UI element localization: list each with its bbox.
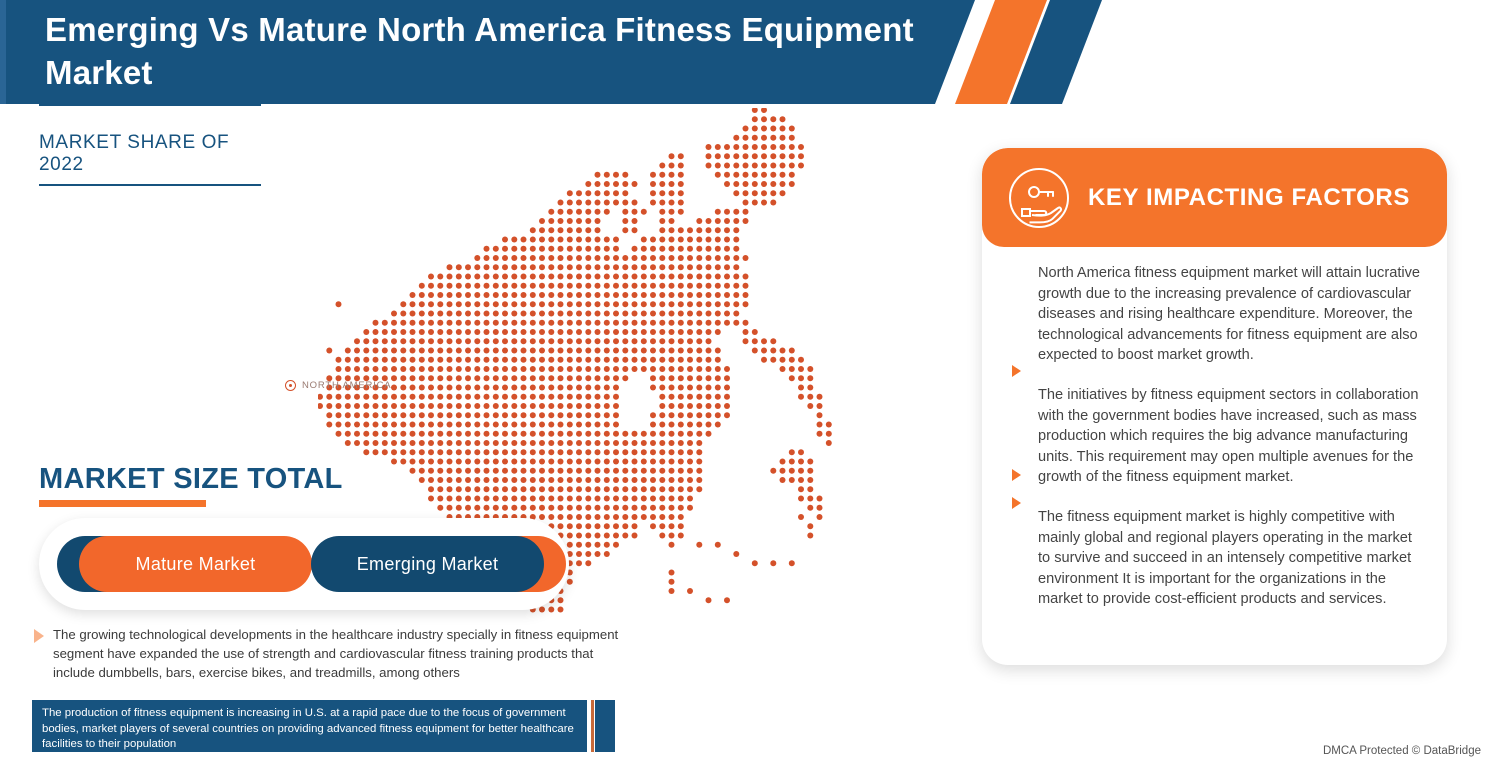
header: Emerging Vs Mature North America Fitness… bbox=[0, 0, 1100, 104]
bottom-banner-tail bbox=[595, 700, 615, 752]
key-factor-text-2: The initiatives by fitness equipment sec… bbox=[1038, 387, 1418, 485]
header-left-edge bbox=[0, 0, 6, 104]
market-legend-card: Mature Market Emerging Market bbox=[39, 518, 569, 610]
legend-pill-emerging-market[interactable]: Emerging Market bbox=[311, 536, 566, 592]
footer-copyright: DMCA Protected © DataBridge bbox=[1323, 745, 1481, 757]
key-impacting-factors-card: KEY IMPACTING FACTORS North America fitn… bbox=[982, 148, 1447, 665]
legend-pill-mature-market[interactable]: Mature Market bbox=[57, 536, 312, 592]
key-factor-paragraph-1: North America fitness equipment market w… bbox=[1038, 263, 1425, 366]
market-share-rule-bottom bbox=[39, 184, 261, 186]
key-impacting-factors-title: KEY IMPACTING FACTORS bbox=[1088, 184, 1410, 212]
location-ring-icon bbox=[285, 380, 296, 391]
market-share-rule-top bbox=[39, 104, 261, 106]
key-factor-paragraph-2: The initiatives by fitness equipment sec… bbox=[1038, 385, 1425, 488]
legend-pill-emerging-label: Emerging Market bbox=[311, 536, 544, 592]
bottom-banner-divider bbox=[591, 700, 594, 752]
left-bullet-text: The growing technological developments i… bbox=[53, 625, 629, 682]
hand-holding-key-icon bbox=[1008, 167, 1070, 229]
triangle-bullet-icon bbox=[1012, 497, 1021, 509]
page-title: Emerging Vs Mature North America Fitness… bbox=[45, 8, 915, 94]
market-size-underline bbox=[39, 500, 206, 507]
market-size-title: MARKET SIZE TOTAL bbox=[39, 462, 343, 496]
triangle-outline-icon bbox=[34, 629, 44, 643]
market-share-label: MARKET SHARE OF 2022 bbox=[39, 132, 269, 176]
key-impacting-factors-header: KEY IMPACTING FACTORS bbox=[982, 148, 1447, 247]
map-region-pin: NORTH AMERICA bbox=[285, 380, 391, 391]
market-size-heading-block: MARKET SIZE TOTAL bbox=[39, 462, 343, 507]
bottom-banner: The production of fitness equipment is i… bbox=[32, 700, 587, 752]
infographic-canvas: Emerging Vs Mature North America Fitness… bbox=[0, 0, 1493, 769]
key-factor-text-3: The fitness equipment market is highly c… bbox=[1038, 509, 1412, 607]
market-share-block: MARKET SHARE OF 2022 bbox=[39, 104, 269, 186]
map-region-label: NORTH AMERICA bbox=[302, 380, 391, 391]
left-bullet-item: The growing technological developments i… bbox=[34, 625, 629, 682]
triangle-bullet-icon bbox=[1012, 365, 1021, 377]
key-impacting-factors-body: North America fitness equipment market w… bbox=[982, 247, 1447, 629]
triangle-bullet-icon bbox=[1012, 469, 1021, 481]
legend-pill-mature-label: Mature Market bbox=[79, 536, 312, 592]
key-factor-paragraph-3: The fitness equipment market is highly c… bbox=[1038, 507, 1425, 610]
key-factor-text-1: North America fitness equipment market w… bbox=[1038, 265, 1420, 363]
